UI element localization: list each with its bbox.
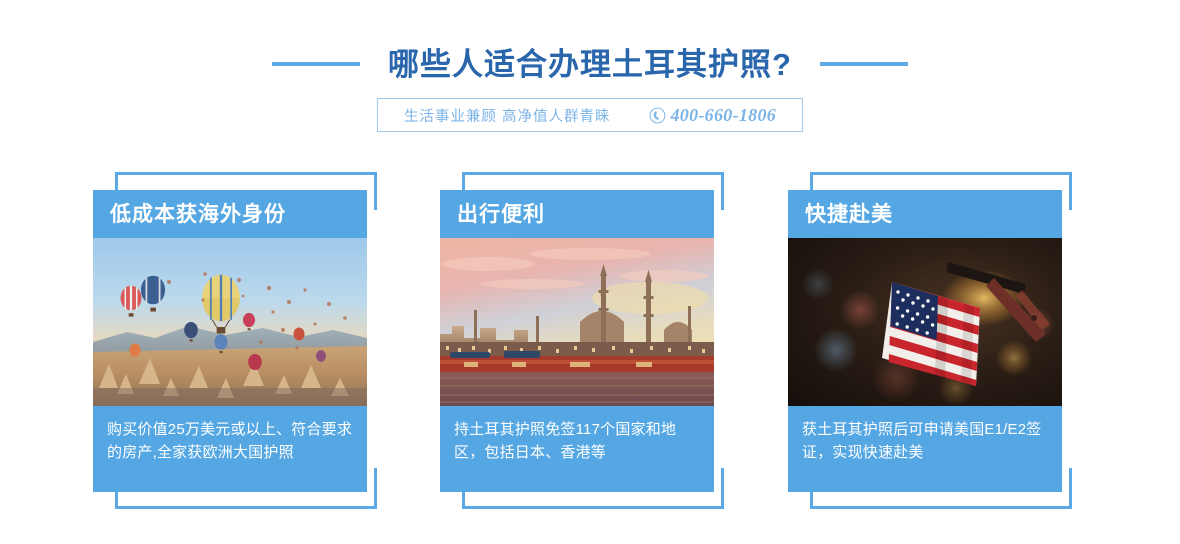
subtitle-tagline: 生活事业兼顾 高净值人群青睐: [404, 105, 611, 126]
benefit-card-fast-us-access[interactable]: 快捷赴美: [770, 168, 1100, 513]
title-rule-left: [272, 62, 360, 66]
title-rule-right: [820, 62, 908, 66]
card-heading-bar: 快捷赴美: [788, 190, 1062, 238]
card-heading-bar: 低成本获海外身份: [93, 190, 367, 238]
card-heading: 快捷赴美: [805, 204, 893, 225]
card-heading: 出行便利: [457, 204, 545, 225]
card-frame-gap-right: [719, 210, 729, 468]
usa-flag-bokeh-photo: [788, 238, 1062, 406]
phone-circle-icon: [648, 107, 665, 124]
card-caption: 获土耳其护照后可申请美国E1/E2签证，实现快速赴美: [788, 406, 1062, 465]
benefit-card-low-cost-identity[interactable]: 低成本获海外身份: [75, 168, 405, 513]
card-body: 低成本获海外身份: [93, 190, 367, 492]
card-heading: 低成本获海外身份: [110, 204, 286, 225]
istanbul-mosque-skyline-photo: [440, 238, 714, 406]
title-row: 哪些人适合办理土耳其护照?: [0, 42, 1180, 86]
benefit-card-travel-convenience[interactable]: 出行便利: [422, 168, 752, 513]
phone-number: 400-660-1806: [670, 105, 776, 126]
card-body: 快捷赴美: [788, 190, 1062, 492]
promo-page: 哪些人适合办理土耳其护照? 生活事业兼顾 高净值人群青睐 400-660-180…: [0, 0, 1180, 544]
page-header: 哪些人适合办理土耳其护照? 生活事业兼顾 高净值人群青睐 400-660-180…: [0, 0, 1180, 150]
subtitle-banner: 生活事业兼顾 高净值人群青睐 400-660-1806: [377, 98, 803, 132]
hot-air-balloons-cappadocia-photo: [93, 238, 367, 406]
card-caption: 持土耳其护照免签117个国家和地区，包括日本、香港等: [440, 406, 714, 465]
card-caption: 购买价值25万美元或以上、符合要求的房产,全家获欧洲大国护照: [93, 406, 367, 465]
phone-block[interactable]: 400-660-1806: [648, 105, 776, 126]
card-frame-gap-right: [372, 210, 382, 468]
benefit-card-row: 低成本获海外身份: [0, 168, 1180, 518]
card-frame-gap-right: [1067, 210, 1077, 468]
page-title: 哪些人适合办理土耳其护照?: [388, 49, 792, 80]
card-body: 出行便利: [440, 190, 714, 492]
card-heading-bar: 出行便利: [440, 190, 714, 238]
